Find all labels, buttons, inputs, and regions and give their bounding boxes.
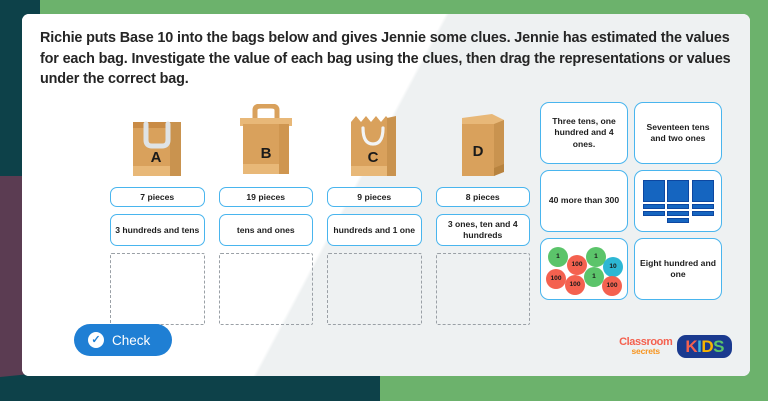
dropzone-d[interactable] <box>436 253 531 325</box>
bag-b[interactable]: B <box>219 102 314 180</box>
bag-column-c: C 9 pieces hundreds and 1 one <box>327 102 422 325</box>
kids-letter-k: K <box>685 338 697 355</box>
bag-letter: C <box>368 149 379 166</box>
clue-card-base10-blocks[interactable] <box>634 170 722 232</box>
ten-block <box>643 211 665 216</box>
hundreds-blocks <box>643 180 714 202</box>
loop-handle-bag-icon: B <box>235 104 297 180</box>
clue-card-2[interactable]: Seventeen tens and two ones <box>634 102 722 164</box>
brand-line-2: secrets <box>632 347 660 356</box>
bag-columns: A 7 pieces 3 hundreds and tens <box>110 102 530 325</box>
pieces-pill-d: 8 pieces <box>436 187 531 207</box>
check-button[interactable]: ✓ Check <box>74 324 172 356</box>
check-circle-icon: ✓ <box>88 332 104 348</box>
flat-handle-bag-icon: A <box>126 108 188 180</box>
clue-card-6[interactable]: Eight hundred and one <box>634 238 722 300</box>
check-button-label: Check <box>112 333 150 348</box>
instructions-text: Richie puts Base 10 into the bags below … <box>40 28 734 90</box>
counter-100: 100 <box>602 276 622 296</box>
ten-block <box>667 218 689 223</box>
ten-block <box>692 211 714 216</box>
pieces-pill-c: 9 pieces <box>327 187 422 207</box>
lesson-stage: Richie puts Base 10 into the bags below … <box>0 0 768 401</box>
ten-block <box>667 204 689 209</box>
tens-row <box>667 218 689 223</box>
dropzone-a[interactable] <box>110 253 205 325</box>
activity-card: Richie puts Base 10 into the bags below … <box>22 14 750 376</box>
zigzag-top-bag-icon: C <box>343 108 405 180</box>
bag-d[interactable]: D <box>436 102 531 180</box>
bag-letter: A <box>151 149 162 166</box>
base-ten-blocks-icon <box>640 176 716 226</box>
bag-letter: B <box>260 145 271 162</box>
ten-block <box>667 211 689 216</box>
tens-row <box>643 204 714 209</box>
bag-column-a: A 7 pieces 3 hundreds and tens <box>110 102 205 325</box>
hundred-block <box>667 180 689 202</box>
bag-column-d: D 8 pieces 3 ones, ten and 4 hundreds <box>436 102 531 325</box>
ten-block <box>643 204 665 209</box>
hundred-block <box>692 180 714 202</box>
brand-logos: Classroom secrets K I D S <box>619 335 732 358</box>
hundred-block <box>643 180 665 202</box>
kids-letter-d: D <box>701 338 713 355</box>
ten-block <box>692 204 714 209</box>
dropzone-b[interactable] <box>219 253 314 325</box>
kids-logo: K I D S <box>677 335 732 358</box>
counter-1: 1 <box>584 267 604 287</box>
estimate-pill-b: tens and ones <box>219 214 314 246</box>
counter-10: 10 <box>603 257 623 277</box>
counter-100: 100 <box>546 269 566 289</box>
bag-a[interactable]: A <box>110 102 205 180</box>
counter-100: 100 <box>565 275 585 295</box>
counter-1: 1 <box>548 247 568 267</box>
clue-card-3[interactable]: 40 more than 300 <box>540 170 628 232</box>
bag-letter: D <box>472 143 483 160</box>
pieces-pill-b: 19 pieces <box>219 187 314 207</box>
tens-row <box>643 211 714 216</box>
folded-top-bag-icon: D <box>452 106 514 180</box>
clue-cards: Three tens, one hundred and 4 ones. Seve… <box>540 102 722 300</box>
clue-card-place-value-counters[interactable]: 11001101001001100 <box>540 238 628 300</box>
classroom-secrets-logo: Classroom secrets <box>619 337 672 356</box>
estimate-pill-d: 3 ones, ten and 4 hundreds <box>436 214 531 246</box>
estimate-pill-c: hundreds and 1 one <box>327 214 422 246</box>
kids-letter-s: S <box>713 338 724 355</box>
bag-c[interactable]: C <box>327 102 422 180</box>
clue-card-1[interactable]: Three tens, one hundred and 4 ones. <box>540 102 628 164</box>
bag-column-b: B 19 pieces tens and ones <box>219 102 314 325</box>
estimate-pill-a: 3 hundreds and tens <box>110 214 205 246</box>
dropzone-c[interactable] <box>327 253 422 325</box>
place-value-counters-icon: 11001101001001100 <box>541 239 627 299</box>
pieces-pill-a: 7 pieces <box>110 187 205 207</box>
